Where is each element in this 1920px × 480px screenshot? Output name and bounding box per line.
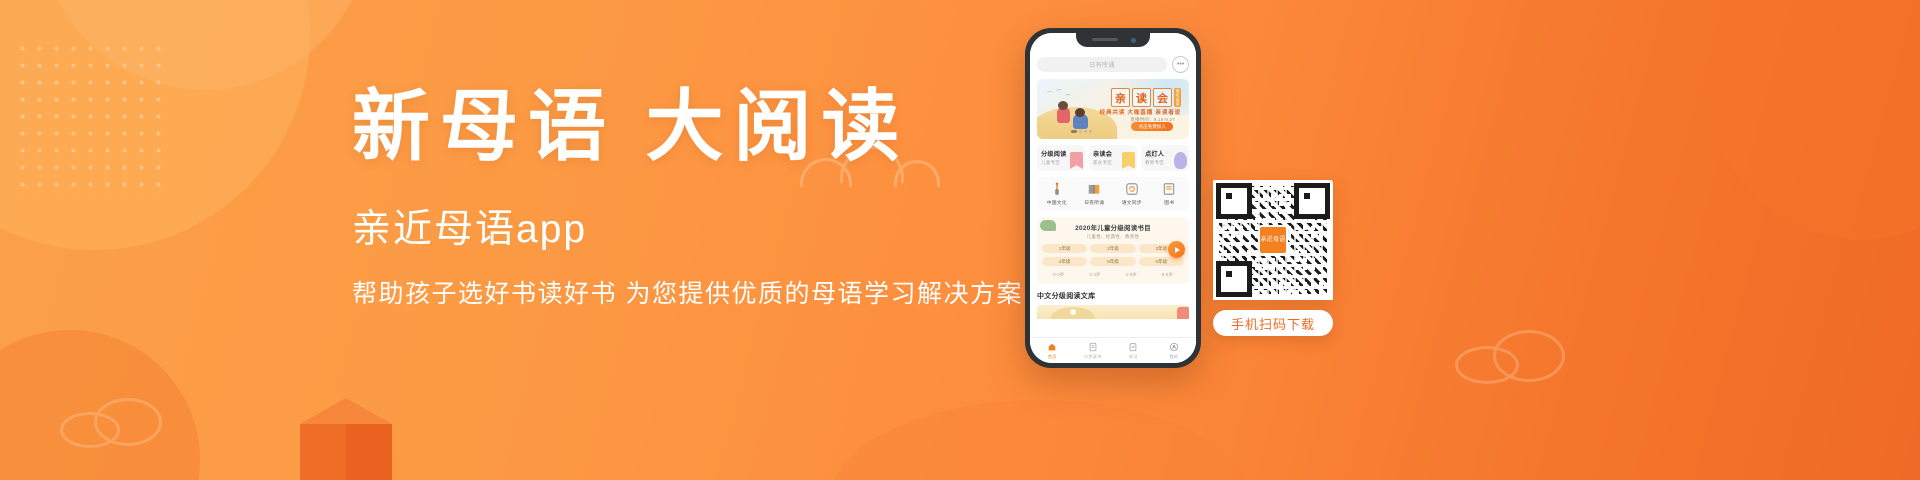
library-banner[interactable] bbox=[1037, 305, 1189, 319]
page-title: 新母语 大阅读 bbox=[352, 88, 1012, 166]
promo-title-char-1: 亲 bbox=[1111, 88, 1130, 107]
more-dots-icon[interactable]: ••• bbox=[1172, 56, 1189, 73]
qr-finder-bottom-left bbox=[1216, 261, 1252, 297]
banner-tagline: 帮助孩子选好书读好书 为您提供优质的母语学习解决方案 bbox=[352, 282, 1012, 307]
phone-notch bbox=[1076, 33, 1150, 47]
tab-label: 小步读书 bbox=[1084, 354, 1102, 360]
promo-title: 亲 读 会 亲近母语 bbox=[1111, 88, 1181, 107]
quick-entry-label: 中国文化 bbox=[1047, 199, 1067, 206]
tab-label: 我的 bbox=[1169, 354, 1178, 360]
decorative-cube bbox=[300, 398, 392, 480]
quick-entry-row: 中国文化 日有所诵 bbox=[1037, 177, 1189, 211]
people-icon bbox=[1174, 152, 1187, 169]
clipboard-icon bbox=[1128, 342, 1138, 352]
leaf-icon bbox=[1040, 220, 1056, 231]
promo-child-1 bbox=[1057, 107, 1070, 123]
promo-subtitle: 经典共读 大咖直播 亲读者说 bbox=[1100, 108, 1181, 116]
promo-banner: 新母语 大阅读 亲近母语app 帮助孩子选好书读好书 为您提供优质的母语学习解决… bbox=[0, 0, 1920, 480]
quick-entry-label: 语文同步 bbox=[1122, 199, 1142, 206]
category-cards: 分级阅读 儿童专区 亲读会 家长专区 点灯人 教师专区 bbox=[1037, 145, 1189, 171]
qr-logo: 亲近母语 bbox=[1258, 225, 1288, 255]
quick-entry-chinese-culture[interactable]: 中国文化 bbox=[1038, 182, 1076, 206]
age-chips-row: 0-3岁 3-4岁 4-5岁 5-6岁 bbox=[1042, 270, 1184, 279]
qr-finder-top-right bbox=[1294, 183, 1330, 219]
promo-child-2 bbox=[1073, 114, 1088, 129]
age-chip[interactable]: 5-6岁 bbox=[1151, 270, 1184, 279]
category-card-parent-club[interactable]: 亲读会 家长专区 bbox=[1089, 145, 1137, 171]
quick-entry-daily-recite[interactable]: 日有所诵 bbox=[1076, 182, 1114, 206]
grade-chip[interactable]: 5年级 bbox=[1090, 257, 1135, 266]
app-name: 亲近母语app bbox=[352, 210, 1012, 249]
booklist-title: 2020年儿童分级阅读书目 bbox=[1042, 223, 1184, 232]
book-yellow-icon bbox=[1122, 152, 1135, 169]
quick-entry-label: 图书 bbox=[1164, 199, 1174, 206]
grade-chip[interactable]: 1年级 bbox=[1042, 244, 1087, 253]
category-card-graded-reading[interactable]: 分级阅读 儿童专区 bbox=[1037, 145, 1085, 171]
ink-brush-icon bbox=[1050, 182, 1064, 196]
age-chip[interactable]: 4-5岁 bbox=[1115, 270, 1148, 279]
book-red-icon bbox=[1070, 152, 1083, 169]
quick-entry-label: 日有所诵 bbox=[1084, 199, 1104, 206]
grade-chip[interactable]: 2年级 bbox=[1090, 244, 1135, 253]
tab-label: 首页 bbox=[1048, 354, 1057, 360]
promo-title-char-3: 会 bbox=[1153, 88, 1172, 107]
play-video-icon[interactable] bbox=[1168, 241, 1185, 258]
tab-label: 学习 bbox=[1129, 354, 1138, 360]
decorative-cloud-left bbox=[60, 398, 180, 448]
search-input[interactable]: 日有所诵 bbox=[1037, 57, 1167, 72]
promo-join-button[interactable]: 点击免费加入 bbox=[1131, 122, 1173, 131]
qr-finder-top-left bbox=[1216, 183, 1252, 219]
open-book-icon bbox=[1087, 182, 1101, 196]
grade-chips-row-2: 4年级 5年级 6年级 bbox=[1042, 257, 1184, 266]
grade-chip[interactable]: 4年级 bbox=[1042, 257, 1087, 266]
decorative-cloud-right bbox=[1455, 330, 1585, 386]
age-chip[interactable]: 3-4岁 bbox=[1078, 270, 1111, 279]
library-title: 中文分级阅读文库 bbox=[1037, 291, 1189, 301]
promo-side-tag: 亲近母语 bbox=[1174, 88, 1181, 107]
phone-mockup: 日有所诵 ••• 亲 读 会 亲近母语 bbox=[1025, 28, 1201, 368]
booklist-section: 2020年儿童分级阅读书目 儿童性、经典性、教育性 1年级 2年级 3年级 4年… bbox=[1037, 217, 1189, 284]
book-icon bbox=[1162, 182, 1176, 196]
download-button[interactable]: 手机扫码下载 bbox=[1213, 310, 1333, 336]
home-icon bbox=[1047, 342, 1057, 352]
search-placeholder: 日有所诵 bbox=[1089, 60, 1115, 69]
tab-study[interactable]: 学习 bbox=[1113, 342, 1154, 360]
tab-profile[interactable]: 我的 bbox=[1154, 342, 1195, 360]
tab-home[interactable]: 首页 bbox=[1032, 342, 1073, 360]
category-card-teacher[interactable]: 点灯人 教师专区 bbox=[1141, 145, 1189, 171]
age-chip[interactable]: 0-3岁 bbox=[1042, 270, 1075, 279]
quick-entry-sync[interactable]: 语文同步 bbox=[1113, 182, 1151, 206]
grade-chip[interactable]: 6年级 bbox=[1139, 257, 1184, 266]
promo-card[interactable]: 亲 读 会 亲近母语 经典共读 大咖直播 亲读者说 直播时间：9.16-9.27… bbox=[1037, 79, 1189, 139]
bottom-tab-bar: 首页 小步读书 学习 bbox=[1030, 337, 1196, 363]
tab-reading[interactable]: 小步读书 bbox=[1073, 342, 1114, 360]
phone-screen: 日有所诵 ••• 亲 读 会 亲近母语 bbox=[1030, 33, 1196, 363]
list-icon bbox=[1088, 342, 1098, 352]
decorative-circle-bottom-center bbox=[830, 400, 1250, 480]
grade-chips-row-1: 1年级 2年级 3年级 bbox=[1042, 244, 1184, 253]
decorative-circle-top-right bbox=[1710, 0, 1920, 240]
carousel-dots[interactable] bbox=[1071, 130, 1092, 133]
sync-icon bbox=[1125, 182, 1139, 196]
quick-entry-books[interactable]: 图书 bbox=[1151, 182, 1189, 206]
user-icon bbox=[1169, 342, 1179, 352]
promo-title-char-2: 读 bbox=[1132, 88, 1151, 107]
dot-pattern bbox=[14, 40, 164, 200]
app-search-bar: 日有所诵 ••• bbox=[1037, 56, 1189, 73]
qr-code: 亲近母语 bbox=[1213, 180, 1333, 300]
banner-copy: 新母语 大阅读 亲近母语app 帮助孩子选好书读好书 为您提供优质的母语学习解决… bbox=[352, 88, 1012, 307]
booklist-subtitle: 儿童性、经典性、教育性 bbox=[1042, 234, 1184, 240]
